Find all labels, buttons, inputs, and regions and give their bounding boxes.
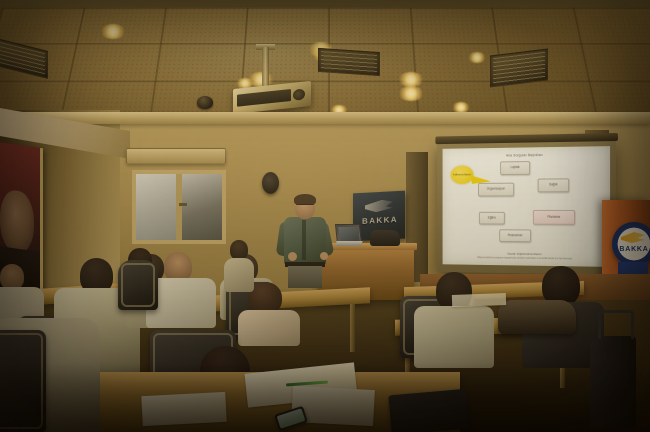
audience-member (418, 272, 490, 364)
slide-node: Eğitim (479, 212, 505, 225)
presenter-hand-right (320, 252, 328, 260)
handout-paper (141, 392, 226, 426)
bakka-rosette-logo: BAKKA (612, 222, 650, 266)
tablet-folder (388, 389, 469, 432)
ceiling-downlight (468, 52, 486, 63)
ceiling-downlight (398, 72, 424, 87)
window-handle[interactable] (179, 203, 187, 206)
bakka-banner-text: BAKKA (359, 215, 401, 226)
slide-node: Sağlık (538, 178, 570, 192)
bakka-swoosh-icon (365, 199, 393, 212)
suitcase-handle[interactable] (598, 310, 634, 339)
presentation-room-photo: BAKKA Ana Sorgular Başlıkları Kalkınma A… (0, 0, 650, 432)
window (132, 170, 226, 244)
slide-callout-burst: Kalkınma Ajansı (451, 166, 474, 184)
presenter-hand-left (288, 252, 297, 261)
shoulder-bag (498, 300, 576, 334)
window-pane-right (182, 174, 222, 240)
window-pane-left (136, 174, 176, 240)
person-torso (224, 258, 254, 292)
slide-footnote-text: Bölgesel kalkınma programı kapsamında yü… (477, 257, 572, 260)
slide-node: Organizasyon (478, 183, 514, 197)
slide-footnote: Kaynak: Değerlendirme Raporu Bölgesel ka… (450, 252, 602, 262)
projector-vent (237, 89, 291, 107)
rosette-text: BAKKA (612, 246, 650, 253)
person-torso (414, 306, 494, 368)
podium-bag (370, 230, 400, 246)
projection-screen: Ana Sorgular Başlıkları Kalkınma Ajansı … (437, 140, 616, 275)
slide-node: Planlama (533, 210, 575, 225)
ceiling-downlight (398, 86, 424, 101)
slide-surface: Ana Sorgular Başlıkları Kalkınma Ajansı … (443, 146, 610, 267)
dome-security-camera (197, 96, 213, 109)
presenter-shirt-placket (302, 220, 306, 260)
conference-chair[interactable] (0, 330, 46, 432)
person-head (230, 240, 248, 260)
standing-attendee (222, 240, 256, 290)
projector-lens (293, 89, 305, 101)
window-valance (126, 148, 226, 164)
rolling-suitcase (590, 336, 636, 428)
conference-chair[interactable] (118, 260, 158, 310)
slide-node: Finansman (499, 229, 531, 242)
table-leg (350, 304, 355, 352)
glasses-icon (296, 204, 314, 209)
window-mullion (176, 174, 183, 240)
presenter-speaking (282, 196, 328, 286)
bakka-bird-icon (621, 232, 645, 243)
portrait-face (0, 188, 34, 255)
slide-node: Lojistik (500, 161, 530, 175)
ceiling-downlight (100, 24, 126, 39)
hvac-vent (318, 48, 380, 76)
handout-paper (452, 293, 506, 307)
slide-title: Ana Sorgular Başlıkları (443, 152, 610, 158)
presenter-laptop-base (335, 241, 362, 246)
wall-cornice (0, 112, 650, 124)
person-torso (238, 310, 300, 346)
wall-speaker (262, 172, 279, 194)
